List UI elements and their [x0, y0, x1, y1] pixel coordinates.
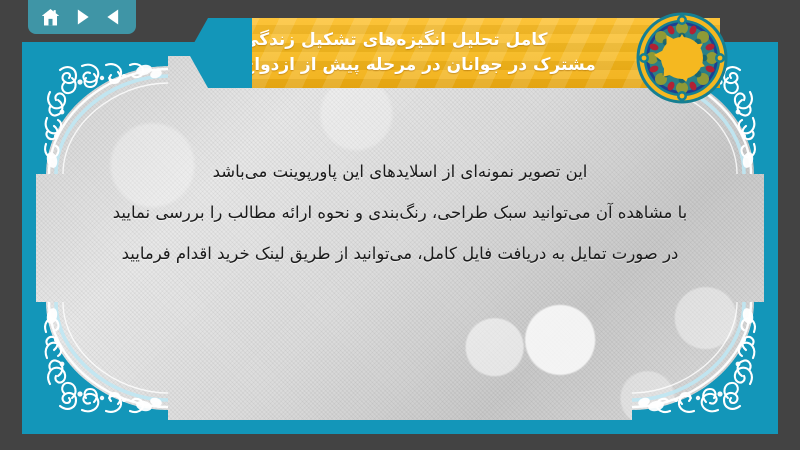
body-line-1: این تصویر نمونه‌ای از اسلایدهای این پاور…: [76, 152, 724, 193]
arabesque-corner-ornament-icon: [632, 302, 764, 420]
body-line-2: با مشاهده آن می‌توانید سبک طراحی، رنگ‌بن…: [76, 193, 724, 234]
title-line-2: مشترک در جوانان در مرحله پیش از ازدواج: [242, 53, 596, 78]
body-line-3: در صورت تمایل به دریافت فایل کامل، می‌تو…: [76, 234, 724, 275]
slide-navigation-toolbar: [28, 0, 136, 34]
viewer-stage: این تصویر نمونه‌ای از اسلایدهای این پاور…: [0, 0, 800, 450]
title-line-1: کامل تحلیل انگیزه‌های تشکیل زندگی: [242, 28, 548, 53]
persian-rosette-medallion-icon: [636, 12, 728, 104]
slide-title-banner: کامل تحلیل انگیزه‌های تشکیل زندگی مشترک …: [190, 18, 720, 88]
slide-content-panel: این تصویر نمونه‌ای از اسلایدهای این پاور…: [36, 56, 764, 420]
next-slide-button[interactable]: [69, 4, 95, 30]
arabesque-corner-ornament-icon: [36, 302, 168, 420]
banner-chevron-tab-icon: [190, 18, 252, 88]
home-button[interactable]: [37, 4, 63, 30]
previous-slide-button[interactable]: [101, 4, 127, 30]
slide-body-text: این تصویر نمونه‌ای از اسلایدهای این پاور…: [76, 152, 724, 275]
